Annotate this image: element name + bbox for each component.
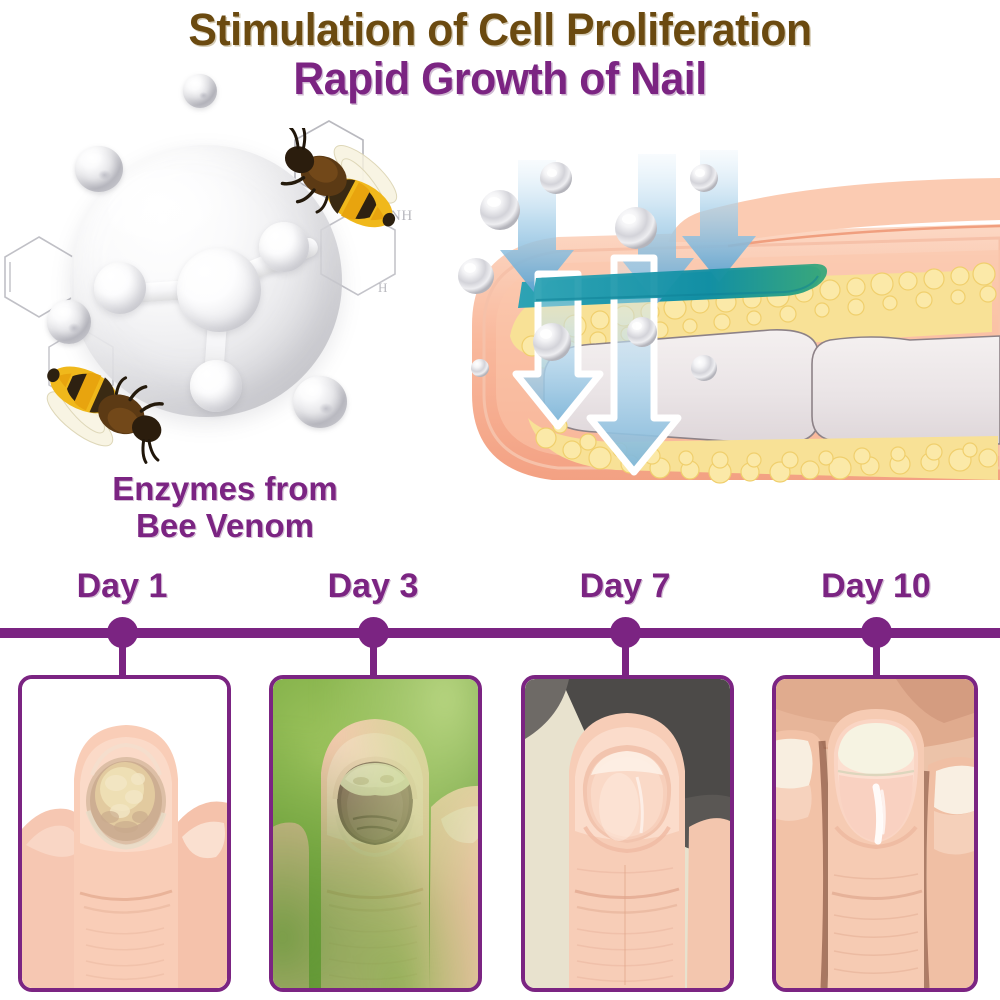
bee-icon [28, 345, 188, 465]
photo-day7 [525, 679, 730, 988]
timeline-dot-1[interactable] [107, 617, 138, 648]
day-label-3: Day 7 [525, 567, 725, 606]
photo-day3 [273, 679, 478, 988]
photo-frame-day1[interactable] [18, 675, 231, 992]
photo-day10 [776, 679, 974, 988]
page-title-line1: Stimulation of Cell Proliferation [25, 6, 975, 53]
day-label-4: Day 10 [776, 567, 976, 606]
photo-frame-day10[interactable] [772, 675, 978, 992]
droplet-icon [47, 300, 91, 344]
droplet-icon [183, 74, 217, 108]
molecule-atom [190, 360, 242, 412]
enzyme-caption-line1: Enzymes from [30, 470, 420, 507]
headline-block: Stimulation of Cell Proliferation Rapid … [0, 6, 1000, 103]
anatomy-svg [432, 150, 1000, 510]
photo-frame-day7[interactable] [521, 675, 734, 992]
timeline-stem-2 [370, 646, 377, 678]
infographic-page: Stimulation of Cell Proliferation Rapid … [0, 0, 1000, 1000]
droplet-icon [293, 376, 347, 428]
timeline-stem-4 [873, 646, 880, 678]
timeline-rail [0, 628, 1000, 638]
molecule-atom-center [177, 248, 261, 332]
droplet-icon [75, 146, 123, 192]
enzyme-caption: Enzymes from Bee Venom [30, 470, 420, 545]
bee-icon [258, 128, 414, 246]
bone-proximal [812, 336, 1000, 444]
timeline-dot-4[interactable] [861, 617, 892, 648]
molecule-atom [94, 262, 146, 314]
timeline-stem-1 [119, 646, 126, 678]
page-title-line2: Rapid Growth of Nail [25, 55, 975, 102]
timeline-stem-3 [622, 646, 629, 678]
timeline-dot-2[interactable] [358, 617, 389, 648]
nail-cross-section-illustration [432, 150, 1000, 510]
photo-frame-day3[interactable] [269, 675, 482, 992]
chem-label-h: H [378, 280, 388, 296]
day-label-1: Day 1 [22, 567, 222, 606]
timeline-dot-3[interactable] [610, 617, 641, 648]
bee-venom-illustration: NH H [0, 110, 440, 510]
enzyme-caption-line2: Bee Venom [30, 507, 420, 544]
day-label-2: Day 3 [273, 567, 473, 606]
photo-day1 [22, 679, 227, 988]
